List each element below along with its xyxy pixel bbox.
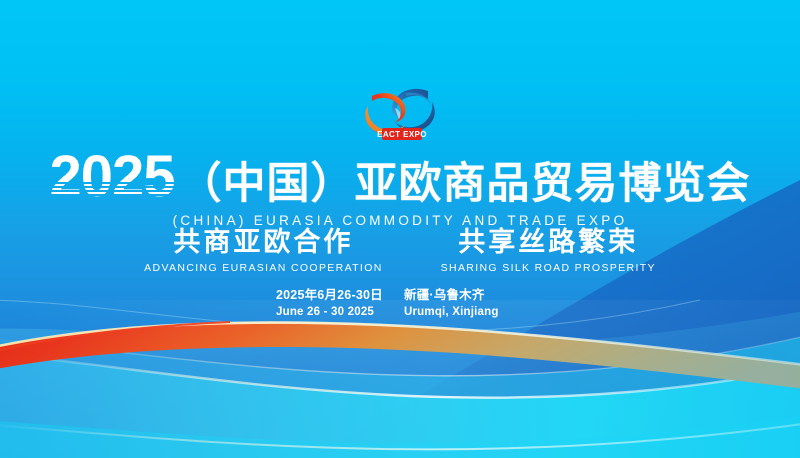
event-info-chinese-row: 2025年6月26-30日 新疆·乌鲁木齐 (276, 284, 524, 303)
title-year: 2025 (49, 148, 176, 206)
slogan-row: 共商亚欧合作 ADVANCING EURASIAN COOPERATION 共享… (0, 228, 800, 274)
eact-expo-logo-icon: EACT EXPO (354, 84, 446, 142)
event-venue-chinese: 新疆·乌鲁木齐 (404, 284, 524, 303)
event-date-chinese: 2025年6月26-30日 (276, 284, 404, 303)
expo-poster: EACT EXPO 2025 （中国）亚欧商品贸易博览会 (CHINA) EUR… (0, 0, 800, 458)
slogan-1-english: ADVANCING EURASIAN COOPERATION (144, 262, 382, 274)
logo-wordmark: EACT EXPO (377, 130, 427, 139)
slogan-1: 共商亚欧合作 ADVANCING EURASIAN COOPERATION (144, 228, 382, 274)
main-title: 2025 （中国）亚欧商品贸易博览会 (49, 148, 750, 206)
logo-container: EACT EXPO (0, 84, 800, 142)
title-chinese: （中国）亚欧商品贸易博览会 (179, 163, 751, 206)
title-block: 2025 （中国）亚欧商品贸易博览会 (CHINA) EURASIA COMMO… (0, 148, 800, 228)
slogan-2-english: SHARING SILK ROAD PROSPERITY (441, 262, 656, 274)
slogan-1-chinese: 共商亚欧合作 (173, 228, 353, 258)
title-english: (CHINA) EURASIA COMMODITY AND TRADE EXPO (173, 213, 628, 228)
slogan-2-chinese: 共享丝路繁荣 (458, 228, 638, 258)
event-info-english-row: June 26 - 30 2025 Urumqi, Xinjiang (276, 306, 524, 318)
slogan-2: 共享丝路繁荣 SHARING SILK ROAD PROSPERITY (441, 228, 656, 274)
event-venue-english: Urumqi, Xinjiang (404, 306, 524, 318)
event-info: 2025年6月26-30日 新疆·乌鲁木齐 June 26 - 30 2025 … (0, 284, 800, 318)
event-date-english: June 26 - 30 2025 (276, 306, 404, 318)
